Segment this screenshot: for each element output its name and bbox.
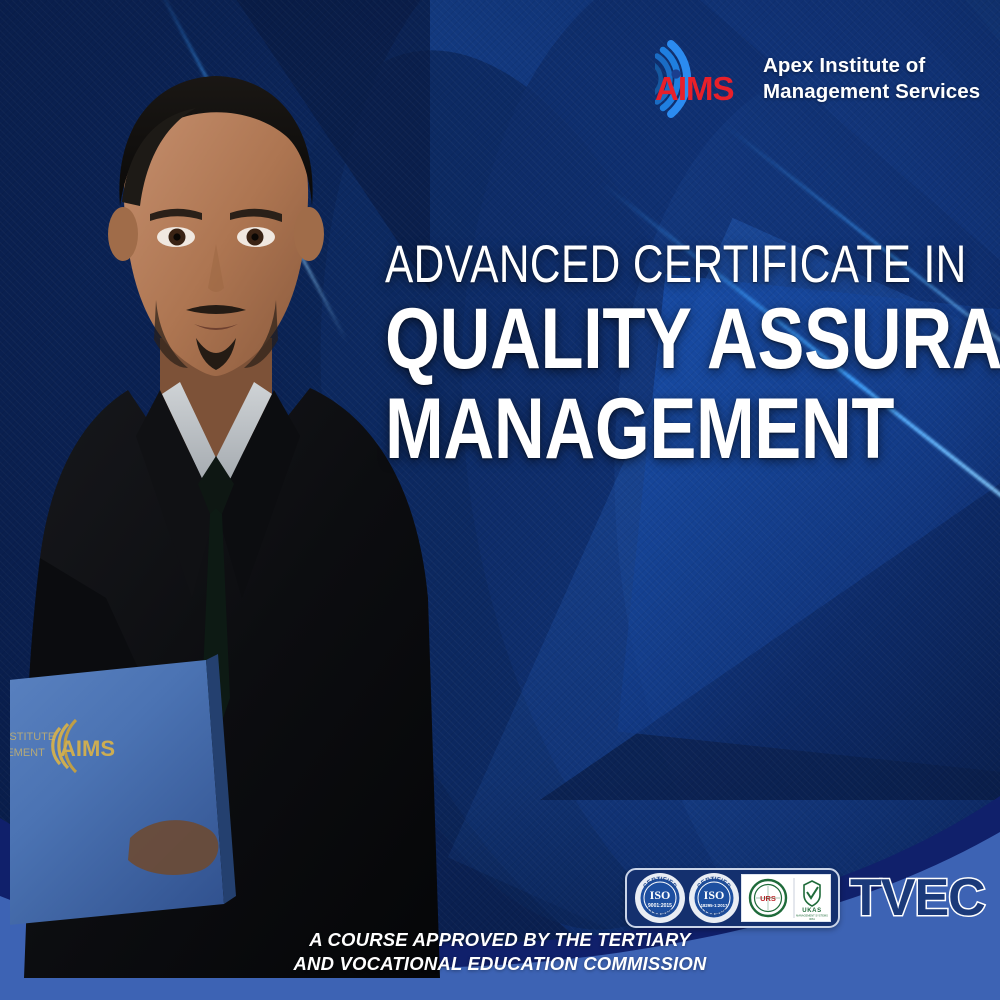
- portrait-photo: AIMS APEX INSTITUTE MANAGEMENT: [10, 38, 480, 978]
- tvec-logo: TVEC: [850, 872, 985, 924]
- svg-text:MANAGEMENT: MANAGEMENT: [10, 747, 45, 759]
- urs-ukas-mark-icon: URS UKAS MANAGEMENT SYSTEMS 0061: [741, 874, 831, 922]
- svg-text:MANAGEMENT SYSTEMS: MANAGEMENT SYSTEMS: [796, 914, 828, 918]
- approval-line-1: A COURSE APPROVED BY THE TERTIARY: [0, 928, 1000, 952]
- svg-text:ISO: ISO: [703, 888, 724, 902]
- promotional-poster: AIMS APEX INSTITUTE MANAGEMENT: [0, 0, 1000, 1000]
- svg-text:AIMS: AIMS: [60, 736, 115, 761]
- svg-text:9001:2015: 9001:2015: [648, 903, 672, 909]
- certificate-folder: AIMS APEX INSTITUTE MANAGEMENT: [10, 654, 236, 930]
- title-line-1: ADVANCED CERTIFICATE IN: [385, 238, 865, 291]
- approval-caption: A COURSE APPROVED BY THE TERTIARY AND VO…: [0, 928, 1000, 975]
- accreditation-badge-bar: ISO 9001:2015 CERTIFIED COMPANY ISO 1829…: [625, 868, 840, 928]
- brand-name: Apex Institute of Management Services: [763, 53, 980, 105]
- svg-text:APEX INSTITUTE: APEX INSTITUTE: [10, 731, 55, 743]
- title-line-2: QUALITY ASSURANCE: [385, 297, 877, 381]
- brand-name-line-1: Apex Institute of: [763, 53, 980, 79]
- svg-text:0061: 0061: [809, 917, 815, 921]
- svg-text:18295-1:2017: 18295-1:2017: [700, 903, 727, 908]
- title-line-3: MANAGEMENT: [385, 387, 877, 471]
- svg-text:AIMS: AIMS: [655, 70, 734, 107]
- svg-text:ISO: ISO: [650, 888, 671, 902]
- svg-text:UKAS: UKAS: [802, 908, 821, 914]
- aims-signal-waves-icon: AIMS: [655, 38, 753, 120]
- brand-logo: AIMS Apex Institute of Management Servic…: [655, 38, 980, 120]
- course-title: ADVANCED CERTIFICATE IN QUALITY ASSURANC…: [385, 238, 985, 472]
- iso-certified-seal-icon: ISO 9001:2015 CERTIFIED COMPANY: [634, 872, 686, 924]
- iso-certified-seal-icon: ISO 18295-1:2017 CERTIFIED COMPANY: [688, 872, 740, 924]
- approval-line-2: AND VOCATIONAL EDUCATION COMMISSION: [0, 952, 1000, 976]
- brand-name-line-2: Management Services: [763, 79, 980, 105]
